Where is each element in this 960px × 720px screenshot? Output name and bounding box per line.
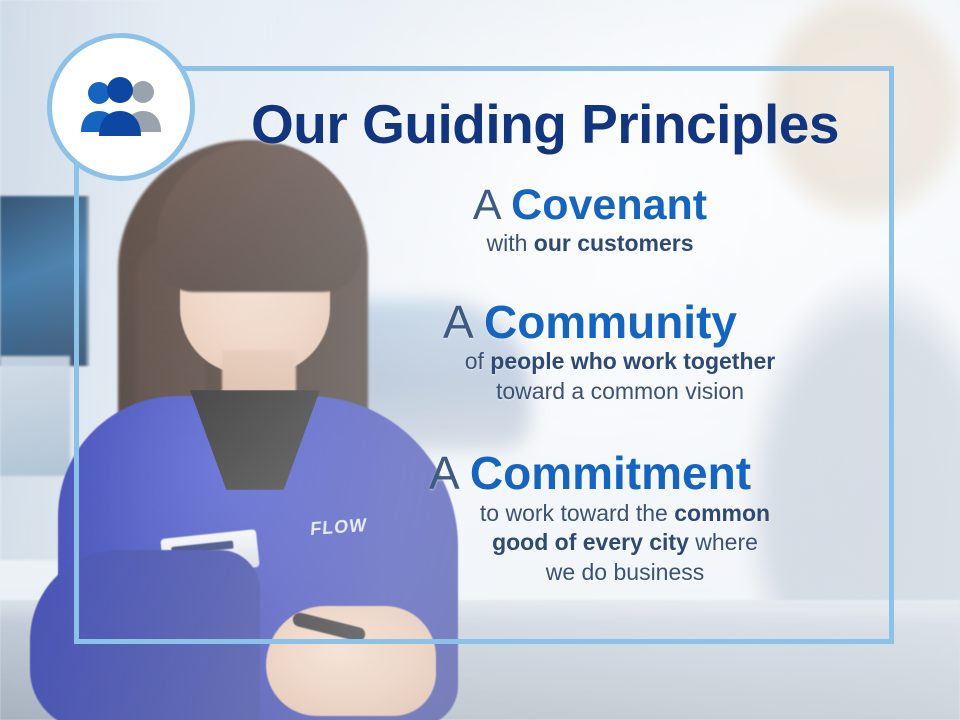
principle-commitment-sub-b: common <box>674 500 770 526</box>
principle-commitment: A Commitment to work toward the common g… <box>300 448 880 587</box>
principle-community-sub: of people who work together toward a com… <box>300 347 880 406</box>
principle-commitment-keyword: Commitment <box>470 447 751 499</box>
principle-covenant: A Covenant with our customers <box>300 182 880 259</box>
principle-covenant-sub-a: with <box>486 230 533 256</box>
principle-commitment-sub-e: we do business <box>546 559 705 585</box>
principle-covenant-heading: A Covenant <box>300 182 880 229</box>
principle-community-lead: A <box>443 296 484 348</box>
page-title: Our Guiding Principles <box>215 96 875 154</box>
principles-list: A Covenant with our customers A Communit… <box>300 182 880 597</box>
principle-commitment-lead: A <box>429 447 470 499</box>
principle-covenant-sub: with our customers <box>300 229 880 258</box>
principle-community-keyword: Community <box>484 296 737 348</box>
principle-covenant-sub-b: our customers <box>534 230 694 256</box>
principle-community-heading: A Community <box>300 297 880 348</box>
principle-commitment-sub-c: good of every city <box>492 529 689 555</box>
principle-community-sub-a: of <box>465 348 491 374</box>
principle-commitment-heading: A Commitment <box>300 448 880 499</box>
principle-community-sub-b: people who work together <box>490 348 775 374</box>
principle-covenant-lead: A <box>473 181 511 229</box>
principle-community-sub-c: toward a common vision <box>496 378 744 404</box>
principle-commitment-sub-d: where <box>689 529 758 555</box>
principle-community: A Community of people who work together … <box>300 297 880 406</box>
marketing-graphic: FLOW Our Guiding Principles <box>0 0 960 720</box>
principle-commitment-sub-a: to work toward the <box>480 500 674 526</box>
people-group-icon <box>47 33 195 181</box>
principle-commitment-sub: to work toward the common good of every … <box>300 499 880 587</box>
principle-covenant-keyword: Covenant <box>511 181 707 229</box>
